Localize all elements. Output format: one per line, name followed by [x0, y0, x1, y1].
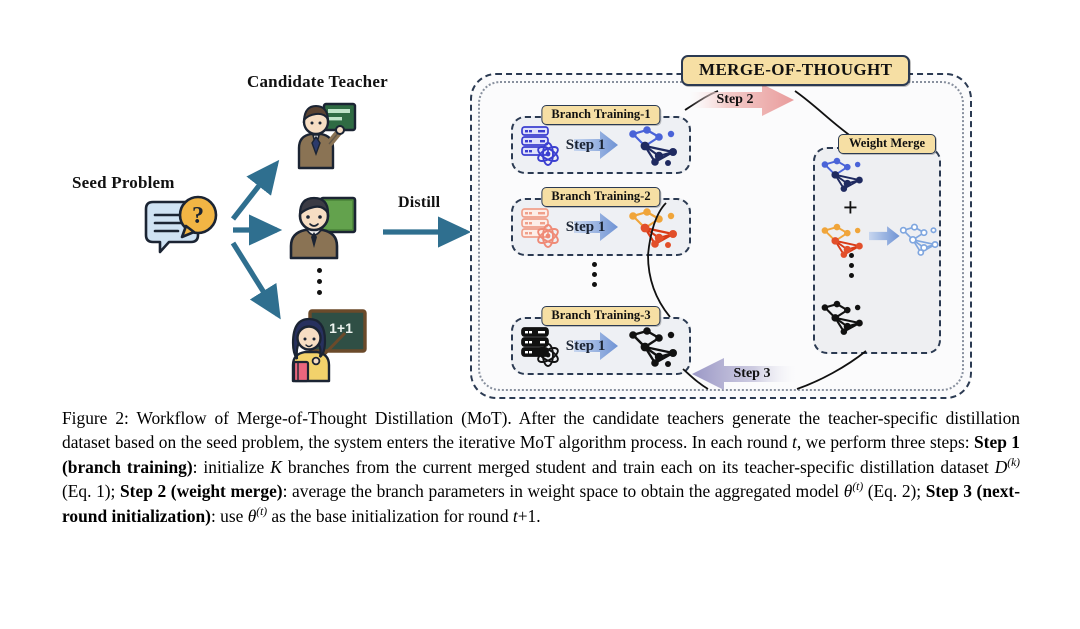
caption-theta-superscript: (t) [852, 481, 863, 493]
step3-arrow: Step 3 [692, 358, 796, 390]
caption-step2-bold: Step 2 (weight merge) [120, 481, 283, 501]
arrow-seed-to-teacher-1 [233, 164, 276, 219]
step3-label: Step 3 [692, 358, 796, 390]
branch-list-ellipsis [592, 262, 597, 287]
branch-1-step-label: Step 1 [566, 137, 606, 154]
branch-training-1-tag: Branch Training-1 [541, 105, 660, 125]
branch-training-1-box: Branch Training-1 [511, 116, 691, 174]
caption-part4: branches from the current merged student… [282, 457, 995, 477]
network-graph-black [625, 323, 683, 369]
seed-problem-icon: ? [140, 195, 226, 265]
caption-part2: , we perform three steps: [797, 432, 974, 452]
weight-merge-tag: Weight Merge [838, 134, 936, 154]
caption-part3: : initialize [193, 457, 271, 477]
network-graph-orange [625, 204, 683, 250]
merged-output-graph [897, 218, 943, 260]
figure-diagram: Seed Problem ? Candidate Teacher [0, 0, 1080, 400]
candidate-teacher-label: Candidate Teacher [247, 72, 388, 92]
merge-input-graph-black [818, 295, 868, 339]
teacher-3-icon: 1+1 [283, 305, 369, 385]
caption-dataset-superscript: (k) [1007, 457, 1020, 469]
step2-label: Step 2 [690, 84, 794, 116]
caption-dataset-symbol: D [995, 457, 1008, 477]
dataset-atom-icon-black [519, 324, 565, 368]
branch-2-step-label: Step 1 [566, 219, 606, 236]
mot-banner: MERGE-OF-THOUGHT [681, 55, 910, 86]
seed-problem-label: Seed Problem [72, 173, 175, 193]
merge-input-graph-orange [818, 218, 868, 262]
teacher-2-icon [283, 186, 361, 264]
teacher-list-ellipsis [314, 268, 324, 295]
step2-arrow: Step 2 [690, 84, 794, 116]
branch-3-step-label: Step 1 [566, 338, 606, 355]
caption-theta-superscript-2: (t) [256, 506, 267, 518]
dataset-atom-icon-orange [519, 205, 565, 249]
merge-input-graph-blue [818, 152, 868, 196]
branch-training-3-box: Branch Training-3 [511, 317, 691, 375]
network-graph-blue [625, 122, 683, 168]
svg-text:?: ? [192, 203, 204, 229]
caption-theta-symbol-2: θ [248, 506, 257, 526]
distill-label: Distill [398, 194, 440, 212]
caption-part7: (Eq. 2); [863, 481, 926, 501]
caption-var-k: K [270, 457, 282, 477]
dataset-atom-icon-blue [519, 123, 565, 167]
caption-figure-number: Figure 2: [62, 408, 129, 428]
branch-training-3-tag: Branch Training-3 [541, 306, 660, 326]
teacher-1-icon [283, 96, 361, 174]
arrow-seed-to-teacher-3 [233, 243, 278, 315]
caption-part5: (Eq. 1); [62, 481, 120, 501]
caption-part9: as the base initialization for round [267, 506, 513, 526]
chalkboard-text: 1+1 [329, 320, 353, 336]
branch-training-2-box: Branch Training-2 [511, 198, 691, 256]
figure-caption: Figure 2: Workflow of Merge-of-Thought D… [62, 406, 1020, 528]
caption-part10: +1. [518, 506, 541, 526]
branch-training-2-tag: Branch Training-2 [541, 187, 660, 207]
caption-part8: : use [211, 506, 248, 526]
caption-part6: : average the branch parameters in weigh… [283, 481, 844, 501]
